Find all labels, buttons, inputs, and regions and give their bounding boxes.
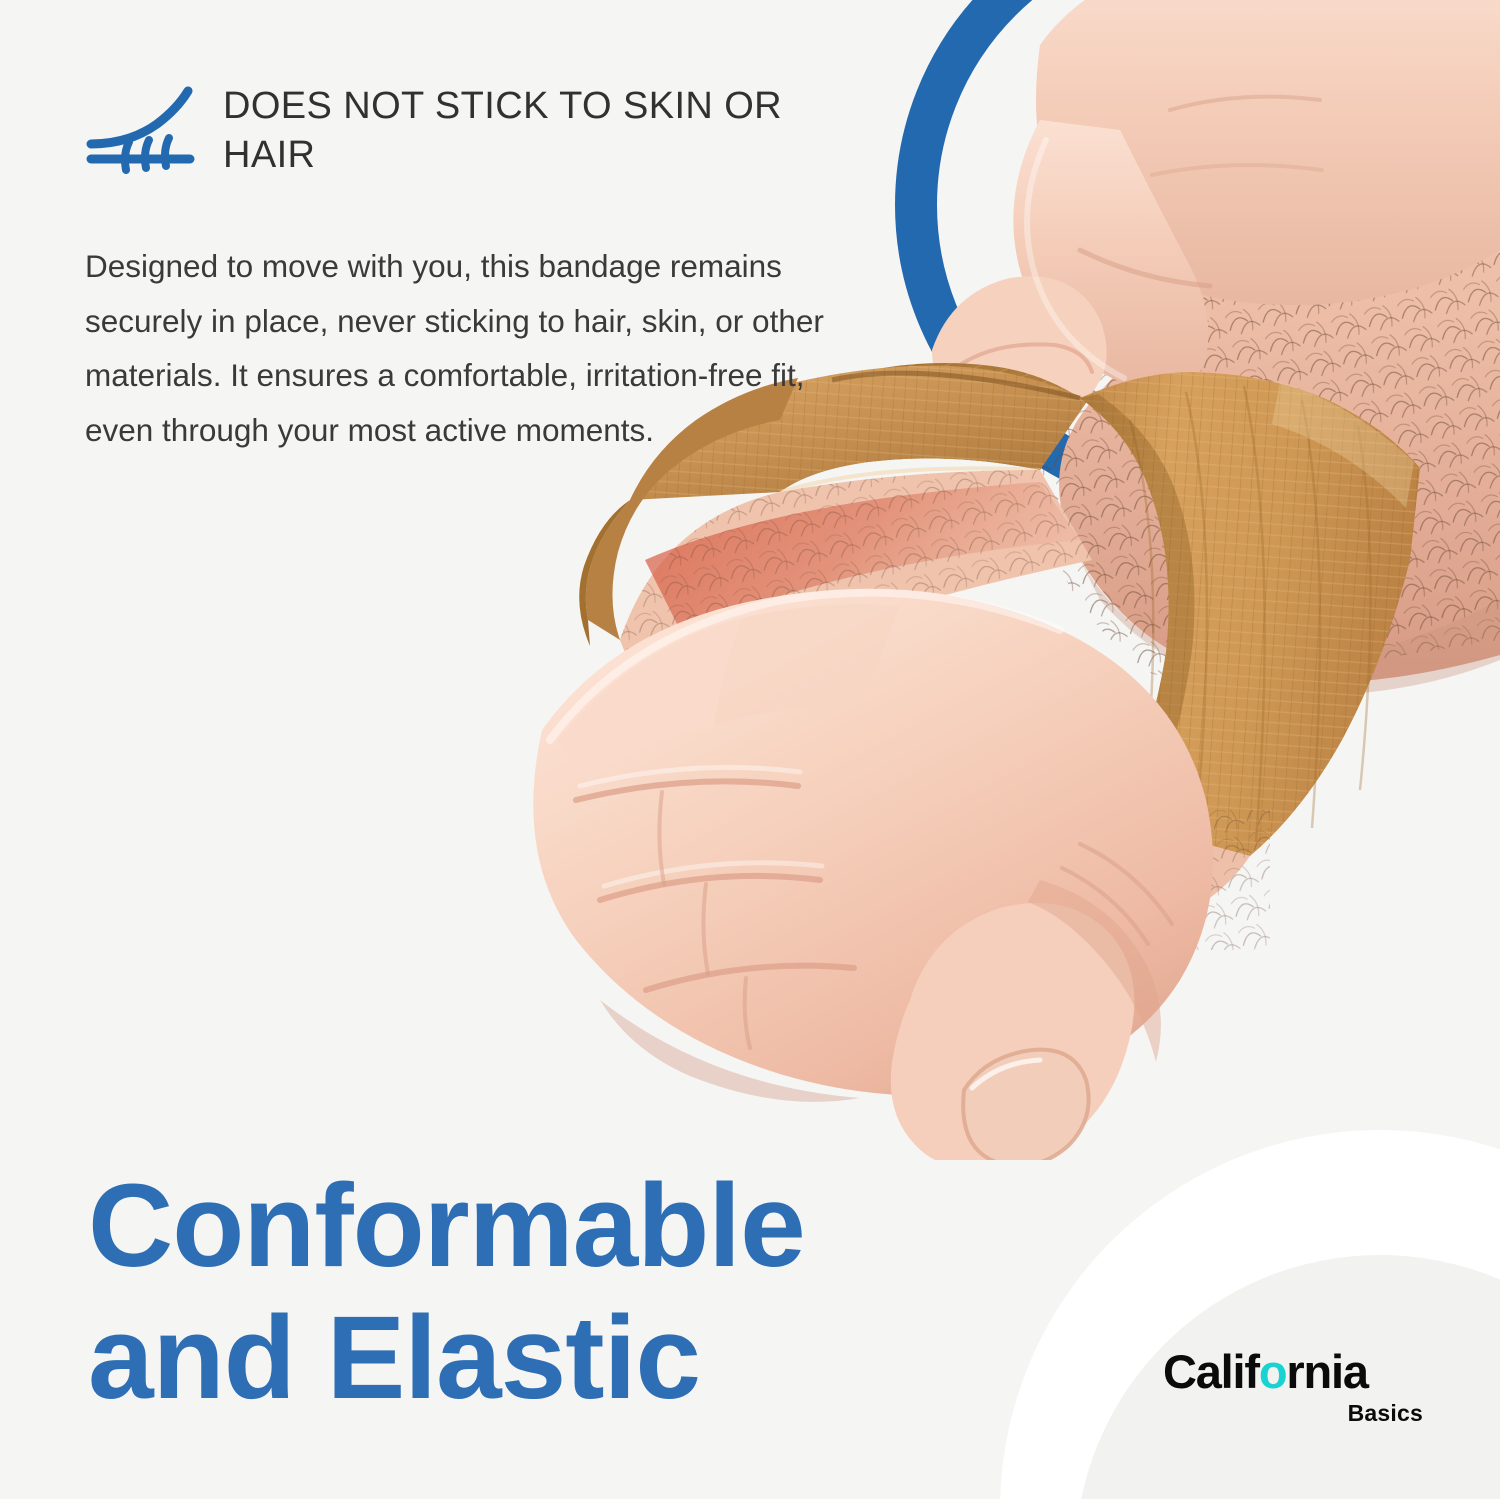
brand-logo-part-before: Calif bbox=[1163, 1348, 1259, 1395]
brand-logo-subtitle: Basics bbox=[1163, 1402, 1423, 1425]
feature-copy-block: DOES NOT STICK TO SKIN OR HAIR Designed … bbox=[85, 78, 875, 458]
feature-body-text: Designed to move with you, this bandage … bbox=[85, 239, 860, 458]
marketing-image-canvas: DOES NOT STICK TO SKIN OR HAIR Designed … bbox=[0, 0, 1500, 1499]
page-headline: Conformable and Elastic bbox=[88, 1160, 805, 1424]
feature-title: DOES NOT STICK TO SKIN OR HAIR bbox=[223, 78, 875, 181]
brand-logo-teal-o: o bbox=[1259, 1348, 1287, 1395]
brand-logo-part-after: rnia bbox=[1286, 1348, 1367, 1395]
brand-logo-wordmark: California bbox=[1163, 1348, 1423, 1395]
brand-logo: California Basics bbox=[1163, 1348, 1423, 1425]
feature-heading-row: DOES NOT STICK TO SKIN OR HAIR bbox=[85, 78, 875, 181]
bandage-peel-no-stick-icon bbox=[85, 82, 197, 174]
